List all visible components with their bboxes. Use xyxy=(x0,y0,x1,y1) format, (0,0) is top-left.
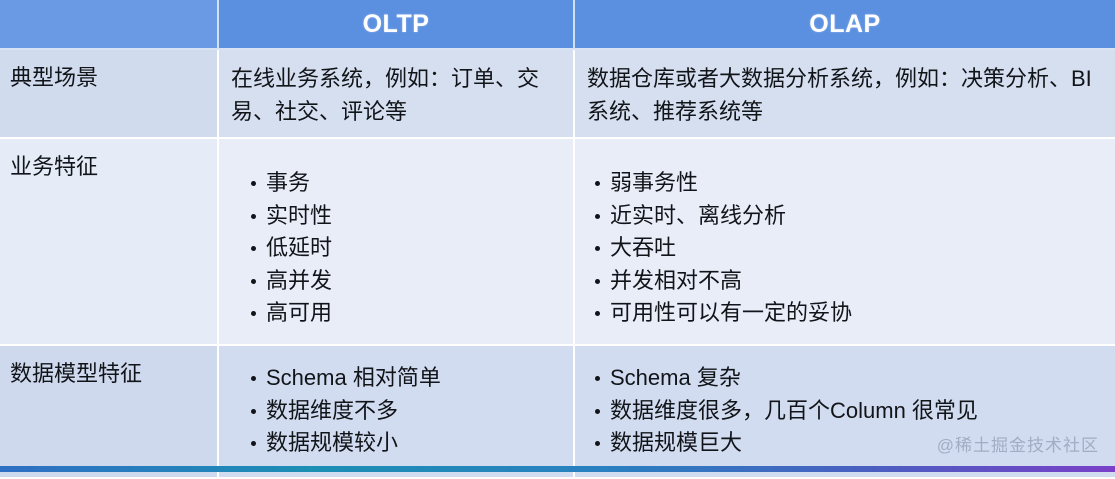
list-item: 数据规模巨大 xyxy=(593,427,1115,460)
list-item: 数据规模较小 xyxy=(249,427,573,460)
bottom-gradient-strip xyxy=(0,466,1115,472)
list-item: 低延时 xyxy=(249,232,573,265)
header-cell-corner xyxy=(0,0,218,49)
list-item: 实时性 xyxy=(249,200,573,233)
list-item: 事务 xyxy=(249,167,573,200)
row-label-cell-business-traits: 业务特征 xyxy=(0,138,218,345)
table-header-row: OLTP OLAP xyxy=(0,0,1115,49)
header-cell-olap: OLAP xyxy=(574,0,1115,49)
table-row: 典型场景 在线业务系统，例如：订单、交易、社交、评论等 数据仓库或者大数据分析系… xyxy=(0,49,1115,138)
table-row: 数据模型特征 Schema 相对简单 数据维度不多 数据规模较小 Sch xyxy=(0,345,1115,478)
table-header: OLTP OLAP xyxy=(0,0,1115,49)
bullet-list-oltp-business-traits: 事务 实时性 低延时 高并发 高可用 xyxy=(249,167,573,330)
cell-olap-data-model-traits: Schema 复杂 数据维度很多，几百个Column 很常见 数据规模巨大 xyxy=(574,345,1115,478)
row-label-cell-data-model-traits: 数据模型特征 xyxy=(0,345,218,478)
list-item: 近实时、离线分析 xyxy=(593,200,1115,233)
table-row: 业务特征 事务 实时性 低延时 高并发 高可用 xyxy=(0,138,1115,345)
header-cell-oltp: OLTP xyxy=(218,0,574,49)
list-item: 可用性可以有一定的妥协 xyxy=(593,297,1115,330)
cell-olap-business-traits: 弱事务性 近实时、离线分析 大吞吐 并发相对不高 可用性可以有一定的妥协 xyxy=(574,138,1115,345)
oltp-olap-comparison-table: OLTP OLAP 典型场景 在线业务系统，例如：订单、交易、社交、评论等 数据… xyxy=(0,0,1115,479)
comparison-slide: OLTP OLAP 典型场景 在线业务系统，例如：订单、交易、社交、评论等 数据… xyxy=(0,0,1115,472)
list-item: 数据维度不多 xyxy=(249,395,573,428)
bullet-list-oltp-data-model-traits: Schema 相对简单 数据维度不多 数据规模较小 xyxy=(249,362,573,460)
row-label-cell-typical-scenario: 典型场景 xyxy=(0,49,218,138)
list-item: 数据维度很多，几百个Column 很常见 xyxy=(593,395,1115,428)
row-label-data-model-traits: 数据模型特征 xyxy=(0,346,217,388)
cell-oltp-business-traits: 事务 实时性 低延时 高并发 高可用 xyxy=(218,138,574,345)
table-body: 典型场景 在线业务系统，例如：订单、交易、社交、评论等 数据仓库或者大数据分析系… xyxy=(0,49,1115,478)
bullet-list-olap-business-traits: 弱事务性 近实时、离线分析 大吞吐 并发相对不高 可用性可以有一定的妥协 xyxy=(593,167,1115,330)
list-item: Schema 相对简单 xyxy=(249,362,573,395)
row-label-business-traits: 业务特征 xyxy=(0,139,217,181)
list-item: 弱事务性 xyxy=(593,167,1115,200)
cell-text-olap-typical-scenario: 数据仓库或者大数据分析系统，例如：决策分析、BI系统、推荐系统等 xyxy=(575,50,1115,129)
cell-oltp-typical-scenario: 在线业务系统，例如：订单、交易、社交、评论等 xyxy=(218,49,574,138)
list-item: 高并发 xyxy=(249,265,573,298)
list-item: 大吞吐 xyxy=(593,232,1115,265)
cell-oltp-data-model-traits: Schema 相对简单 数据维度不多 数据规模较小 xyxy=(218,345,574,478)
list-item: 高可用 xyxy=(249,297,573,330)
list-item: Schema 复杂 xyxy=(593,362,1115,395)
list-item: 并发相对不高 xyxy=(593,265,1115,298)
bullet-list-olap-data-model-traits: Schema 复杂 数据维度很多，几百个Column 很常见 数据规模巨大 xyxy=(593,362,1115,460)
row-label-typical-scenario: 典型场景 xyxy=(0,50,217,92)
cell-olap-typical-scenario: 数据仓库或者大数据分析系统，例如：决策分析、BI系统、推荐系统等 xyxy=(574,49,1115,138)
cell-text-oltp-typical-scenario: 在线业务系统，例如：订单、交易、社交、评论等 xyxy=(219,50,573,129)
